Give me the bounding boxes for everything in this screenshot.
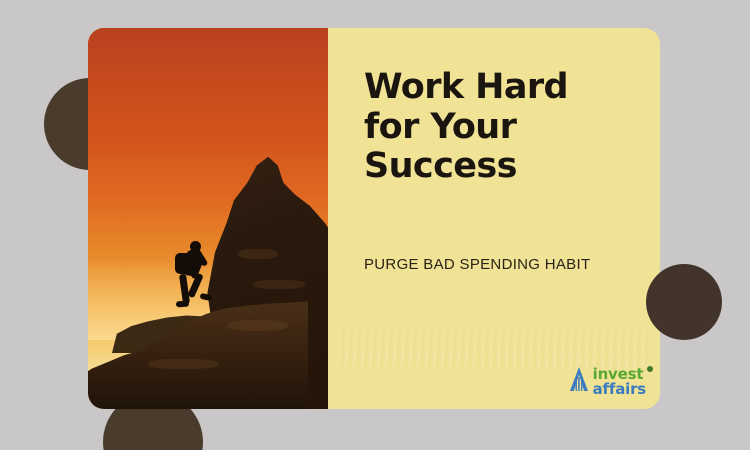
headline: Work Hard for Your Success xyxy=(364,68,630,187)
hero-photo xyxy=(88,28,328,409)
slide-canvas: Work Hard for Your Success PURGE BAD SPE… xyxy=(0,0,750,450)
a-monogram-icon xyxy=(569,366,589,397)
climber-silhouette xyxy=(168,237,224,317)
brand-logo: invest affairs xyxy=(569,366,646,397)
subheadline: PURGE BAD SPENDING HABIT xyxy=(364,256,590,273)
registered-dot-icon xyxy=(647,366,653,372)
brand-wordmark: invest affairs xyxy=(593,367,646,397)
rock-texture-streak xyxy=(148,359,218,369)
promo-card: Work Hard for Your Success PURGE BAD SPE… xyxy=(88,28,660,409)
brand-word-affairs: affairs xyxy=(593,382,646,397)
decorative-circle-right xyxy=(646,264,722,340)
climber-front-foot xyxy=(200,293,213,301)
card-content: Work Hard for Your Success PURGE BAD SPE… xyxy=(328,28,660,409)
rock-texture-streak xyxy=(253,280,305,289)
climber-back-foot xyxy=(176,301,189,308)
rock-texture-streak xyxy=(228,320,288,331)
watermark-texture xyxy=(338,328,650,370)
rock-texture-streak xyxy=(238,249,278,259)
climber-back-leg xyxy=(179,274,190,305)
